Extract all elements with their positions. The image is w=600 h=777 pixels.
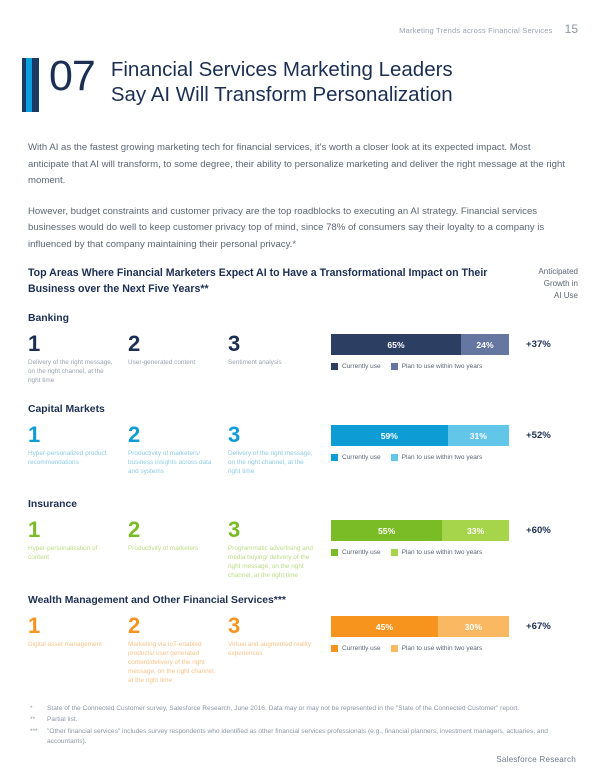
ranked-item-list: 1Delivery of the right message, on the r… [28, 333, 328, 385]
bar-segment-plan-to-use: 24% [461, 334, 509, 355]
item-rank-number: 1 [28, 615, 116, 637]
item-rank-number: 2 [128, 333, 216, 355]
section-banking: Banking1Delivery of the right message, o… [28, 313, 578, 385]
legend-item-plan-to-use: Plan to use within two years [391, 363, 483, 370]
ranked-item-list: 1Hyper-personalized product recommendati… [28, 424, 328, 476]
legend-label: Plan to use within two years [402, 454, 483, 461]
running-head: Marketing Trends across Financial Servic… [399, 22, 578, 36]
anticipated-growth-value: +52% [526, 430, 551, 441]
legend-item-plan-to-use: Plan to use within two years [391, 645, 483, 652]
footnote-marker: *** [30, 727, 47, 747]
bar-segment-plan-to-use: 33% [442, 520, 509, 541]
legend-swatch-icon [331, 645, 338, 652]
item-description: Digital asset management [28, 640, 116, 649]
footnote: **Partial list. [30, 715, 575, 725]
item-description: Delivery of the right message, on the ri… [228, 449, 316, 476]
legend-swatch-icon [331, 549, 338, 556]
legend-label: Plan to use within two years [402, 549, 483, 556]
anticipated-growth-label: Anticipated Growth in AI Use [512, 266, 578, 302]
bar-row: 65%24%+37% [331, 334, 578, 355]
chart-legend: Currently usePlan to use within two year… [331, 454, 578, 461]
growth-label-line-1: Anticipated [512, 266, 578, 278]
stacked-bar-chart: 55%33%+60%Currently usePlan to use withi… [328, 519, 578, 556]
chart-legend: Currently usePlan to use within two year… [331, 549, 578, 556]
item-rank-number: 2 [128, 519, 216, 541]
chart-legend: Currently usePlan to use within two year… [331, 363, 578, 370]
section-capital-markets: Capital Markets1Hyper-personalized produ… [28, 404, 578, 476]
legend-item-currently-use: Currently use [331, 363, 381, 370]
bar-row: 55%33%+60% [331, 520, 578, 541]
bar-segment-currently-use: 59% [331, 425, 448, 446]
item-rank-number: 1 [28, 424, 116, 446]
anticipated-growth-value: +37% [526, 339, 551, 350]
stacked-bar: 59%31% [331, 425, 509, 446]
item-description: Programmatic advertising and media buyin… [228, 544, 316, 580]
page-title-line-1: Financial Services Marketing Leaders [111, 58, 453, 83]
stacked-bar-chart: 59%31%+52%Currently usePlan to use withi… [328, 424, 578, 461]
list-item: 1Hyper-personalization of content [28, 519, 128, 580]
item-rank-number: 3 [228, 615, 316, 637]
legend-label: Currently use [342, 549, 381, 556]
footnote: ***"Other financial services" includes s… [30, 727, 575, 747]
item-rank-number: 1 [28, 519, 116, 541]
legend-label: Currently use [342, 454, 381, 461]
legend-label: Plan to use within two years [402, 363, 483, 370]
page-number: 15 [565, 22, 578, 36]
item-rank-number: 1 [28, 333, 116, 355]
section-body: 1Hyper-personalized product recommendati… [28, 424, 578, 476]
item-description: Hyper-personalization of content [28, 544, 116, 562]
list-item: 2Marketing via IoT-enabled products/ use… [128, 615, 228, 685]
intro-paragraphs: With AI as the fastest growing marketing… [28, 140, 574, 267]
legend-swatch-icon [391, 645, 398, 652]
footnote-marker: * [30, 704, 47, 714]
item-description: User-generated content [128, 358, 216, 367]
footnotes: *State of the Connected Customer survey,… [30, 704, 575, 749]
chapter-number: 07 [49, 56, 95, 97]
item-rank-number: 2 [128, 424, 216, 446]
list-item: 1Digital asset management [28, 615, 128, 685]
intro-paragraph-1: With AI as the fastest growing marketing… [28, 140, 574, 190]
list-item: 1Delivery of the right message, on the r… [28, 333, 128, 385]
item-rank-number: 2 [128, 615, 216, 637]
bar-segment-plan-to-use: 31% [448, 425, 509, 446]
legend-swatch-icon [391, 363, 398, 370]
section-body: 1Hyper-personalization of content2Produc… [28, 519, 578, 580]
item-description: Productivity of marketers [128, 544, 216, 553]
legend-label: Currently use [342, 363, 381, 370]
section-body: 1Digital asset management2Marketing via … [28, 615, 578, 685]
accent-bar-icon [22, 58, 39, 112]
legend-item-currently-use: Currently use [331, 645, 381, 652]
legend-swatch-icon [331, 363, 338, 370]
stacked-bar: 55%33% [331, 520, 509, 541]
growth-label-line-2: Growth in [512, 278, 578, 290]
section-title: Insurance [28, 499, 578, 510]
legend-swatch-icon [391, 454, 398, 461]
list-item: 3Programmatic advertising and media buyi… [228, 519, 328, 580]
legend-item-plan-to-use: Plan to use within two years [391, 454, 483, 461]
ranked-item-list: 1Hyper-personalization of content2Produc… [28, 519, 328, 580]
section-wealth-management: Wealth Management and Other Financial Se… [28, 595, 578, 685]
chart-legend: Currently usePlan to use within two year… [331, 645, 578, 652]
footnote-text: State of the Connected Customer survey, … [47, 704, 575, 714]
ranked-item-list: 1Digital asset management2Marketing via … [28, 615, 328, 685]
legend-item-plan-to-use: Plan to use within two years [391, 549, 483, 556]
growth-label-line-3: AI Use [512, 290, 578, 302]
bar-segment-currently-use: 65% [331, 334, 461, 355]
item-rank-number: 3 [228, 333, 316, 355]
intro-paragraph-2: However, budget constraints and customer… [28, 204, 574, 254]
list-item: 1Hyper-personalized product recommendati… [28, 424, 128, 476]
footnote-text: "Other financial services" includes surv… [47, 727, 575, 747]
bar-segment-currently-use: 45% [331, 616, 438, 637]
bar-segment-plan-to-use: 30% [438, 616, 509, 637]
chart-header: Top Areas Where Financial Marketers Expe… [28, 266, 578, 302]
brand-label: Salesforce Research [496, 755, 576, 764]
stacked-bar-chart: 45%30%+67%Currently usePlan to use withi… [328, 615, 578, 652]
bar-segment-currently-use: 55% [331, 520, 442, 541]
stacked-bar: 45%30% [331, 616, 509, 637]
list-item: 2Productivity of marketers/ business ins… [128, 424, 228, 476]
list-item: 2Productivity of marketers [128, 519, 228, 580]
footnote: *State of the Connected Customer survey,… [30, 704, 575, 714]
anticipated-growth-value: +60% [526, 525, 551, 536]
legend-item-currently-use: Currently use [331, 454, 381, 461]
section-title: Wealth Management and Other Financial Se… [28, 595, 578, 606]
item-description: Hyper-personalized product recommendatio… [28, 449, 116, 467]
chapter-title-block: 07 Financial Services Marketing Leaders … [22, 56, 578, 112]
item-description: Sentiment analysis [228, 358, 316, 367]
item-description: Marketing via IoT-enabled products/ user… [128, 640, 216, 685]
section-title: Banking [28, 313, 578, 324]
item-rank-number: 3 [228, 519, 316, 541]
bar-row: 59%31%+52% [331, 425, 578, 446]
footnote-text: Partial list. [47, 715, 575, 725]
stacked-bar-chart: 65%24%+37%Currently usePlan to use withi… [328, 333, 578, 370]
legend-label: Plan to use within two years [402, 645, 483, 652]
page-title-line-2: Say AI Will Transform Personalization [111, 83, 453, 108]
legend-label: Currently use [342, 645, 381, 652]
item-description: Delivery of the right message, on the ri… [28, 358, 116, 385]
list-item: 3Delivery of the right message, on the r… [228, 424, 328, 476]
list-item: 3Sentiment analysis [228, 333, 328, 385]
footnote-marker: ** [30, 715, 47, 725]
stacked-bar: 65%24% [331, 334, 509, 355]
legend-swatch-icon [391, 549, 398, 556]
anticipated-growth-value: +67% [526, 621, 551, 632]
legend-swatch-icon [331, 454, 338, 461]
section-insurance: Insurance1Hyper-personalization of conte… [28, 499, 578, 580]
legend-item-currently-use: Currently use [331, 549, 381, 556]
section-title: Capital Markets [28, 404, 578, 415]
page-title: Financial Services Marketing Leaders Say… [111, 56, 453, 107]
list-item: 2User-generated content [128, 333, 228, 385]
item-description: Productivity of marketers/ business insi… [128, 449, 216, 476]
bar-row: 45%30%+67% [331, 616, 578, 637]
running-head-title: Marketing Trends across Financial Servic… [399, 26, 552, 35]
item-description: Virtual and augmented reality experience… [228, 640, 316, 658]
item-rank-number: 3 [228, 424, 316, 446]
chart-heading: Top Areas Where Financial Marketers Expe… [28, 266, 498, 297]
list-item: 3Virtual and augmented reality experienc… [228, 615, 328, 685]
section-body: 1Delivery of the right message, on the r… [28, 333, 578, 385]
